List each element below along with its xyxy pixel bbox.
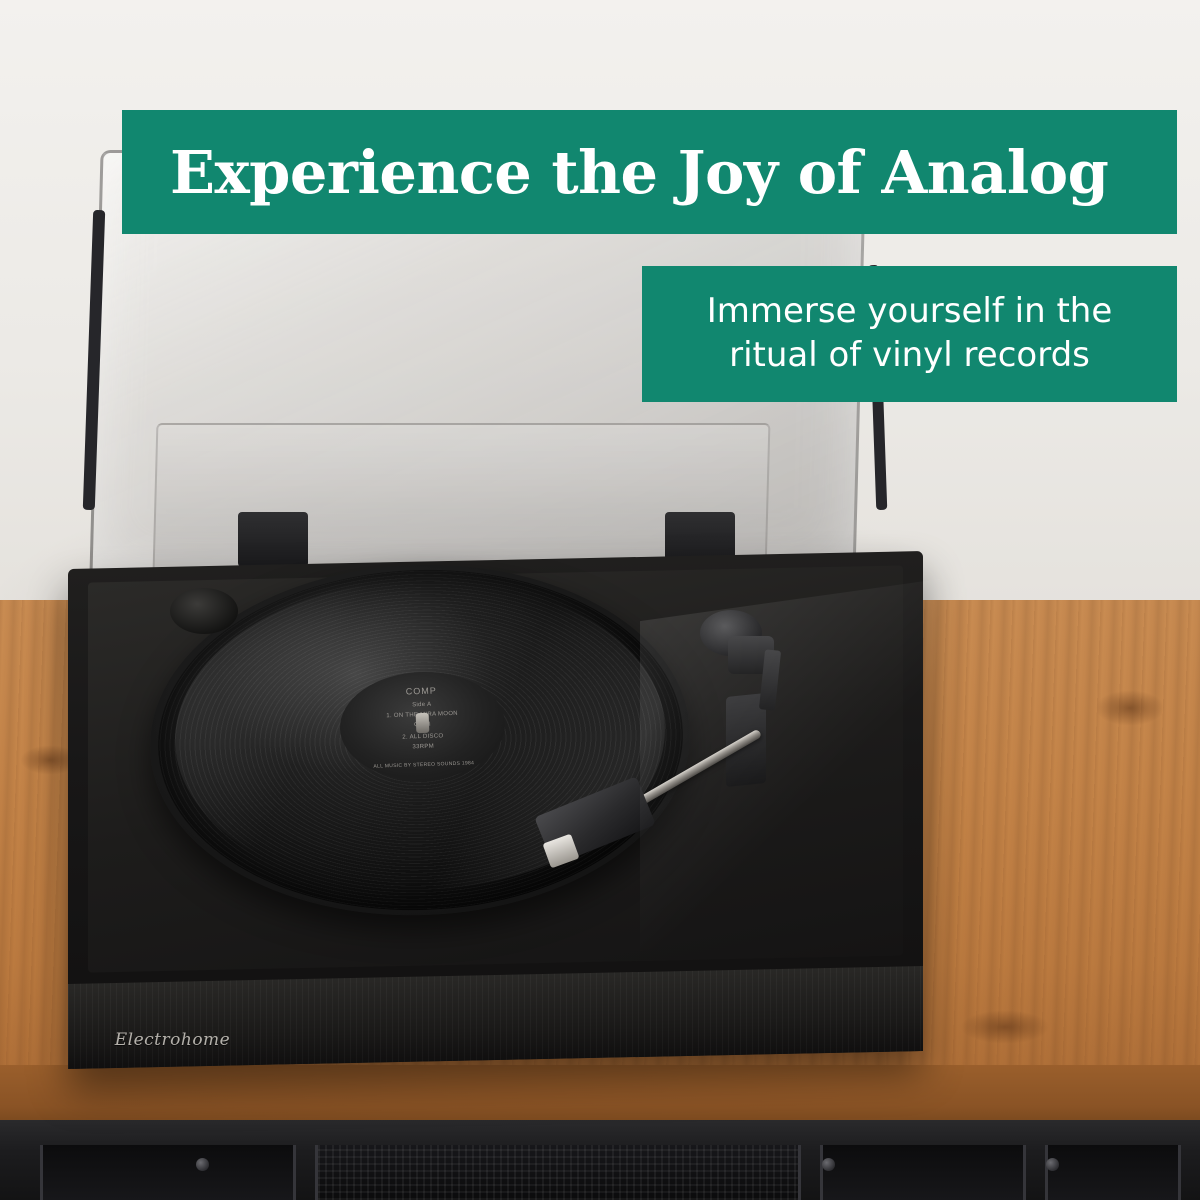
screw-icon — [196, 1158, 209, 1171]
wood-knot — [1095, 690, 1165, 726]
record-label-speed: 33RPM — [341, 741, 506, 753]
subheadline-line-2: ritual of vinyl records — [729, 335, 1090, 375]
subheadline-line-1: Immerse yourself in the — [707, 291, 1113, 331]
wood-knot — [960, 1010, 1050, 1044]
screw-icon — [822, 1158, 835, 1171]
poster: COMP Side A 1. ON THE MIRA MOON OMNI 2. … — [0, 0, 1200, 1200]
cabinet-panel — [820, 1145, 1026, 1200]
cabinet-panel — [1045, 1145, 1181, 1200]
headline-text: Experience the Joy of Analog — [170, 143, 1108, 202]
speed-knob — [170, 588, 238, 634]
headline-banner: Experience the Joy of Analog — [122, 110, 1177, 234]
subheadline-banner: Immerse yourself in the ritual of vinyl … — [642, 266, 1177, 402]
brand-logo: Electrohome — [95, 1023, 250, 1057]
screw-icon — [1046, 1158, 1059, 1171]
subheadline-text: Immerse yourself in the ritual of vinyl … — [707, 290, 1113, 377]
cabinet-mesh-panel — [315, 1145, 801, 1200]
lid-hinge — [238, 512, 308, 567]
spindle — [416, 713, 430, 733]
cabinet-panel — [40, 1145, 296, 1200]
